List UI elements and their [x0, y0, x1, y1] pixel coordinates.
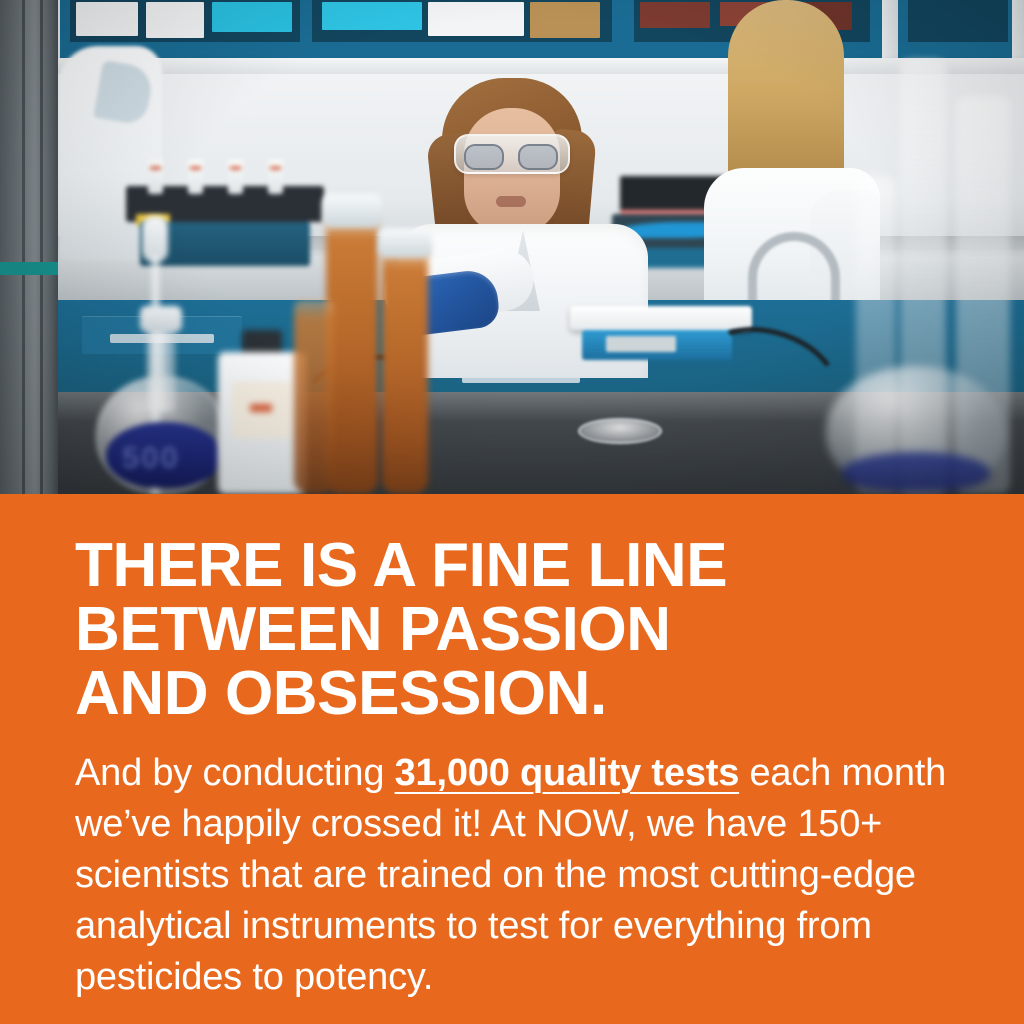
lab-photo: 500 — [0, 0, 1024, 494]
goggle-lens — [518, 144, 558, 170]
flask-volume-label: 500 — [122, 440, 180, 476]
balance-plate — [570, 306, 752, 330]
shelf-box — [146, 2, 204, 38]
structural-column — [0, 0, 58, 494]
promo-card: 500 THERE IS A FINE LINE BETWEEN PASSION… — [0, 0, 1024, 1024]
flask-stopper — [140, 306, 182, 332]
cabinet-divider — [882, 0, 898, 60]
body-copy: And by conducting 31,000 quality tests e… — [75, 748, 954, 1003]
petri-dish — [578, 418, 662, 444]
bottle-label — [232, 382, 292, 438]
page-headline: THERE IS A FINE LINE BETWEEN PASSION AND… — [75, 534, 954, 726]
mouth — [496, 196, 526, 207]
shelf-box — [76, 2, 138, 36]
sample-vial — [188, 160, 203, 194]
burette-cap — [322, 194, 382, 228]
amber-burette — [382, 244, 428, 494]
amber-cylinder — [294, 300, 334, 494]
orange-text-panel: THERE IS A FINE LINE BETWEEN PASSION AND… — [0, 494, 1024, 1024]
body-before: And by conducting — [75, 752, 395, 794]
shelf-compartment — [908, 0, 1008, 42]
column-seam — [22, 0, 25, 494]
burette-cap — [378, 228, 432, 258]
sample-vial — [148, 160, 163, 194]
sample-vial — [228, 160, 243, 194]
stat-emphasis: 31,000 quality tests — [395, 752, 740, 794]
blue-liquid — [842, 452, 990, 492]
shelf-box — [530, 2, 600, 38]
flask-bulb — [96, 376, 228, 494]
sample-vial — [268, 160, 283, 194]
balance-display — [606, 336, 676, 352]
flask-bulb — [826, 366, 1006, 494]
reagent-bottle — [218, 330, 306, 494]
safety-goggles-icon — [454, 134, 570, 174]
goggle-lens — [464, 144, 504, 170]
teal-accent-band — [0, 262, 58, 275]
clear-flask-right — [826, 320, 1006, 494]
cabinet-divider — [1012, 0, 1024, 60]
shelf-box — [212, 2, 292, 32]
lab-coat-collar — [93, 60, 154, 126]
shelf-box — [428, 2, 524, 36]
column-seam — [40, 0, 43, 494]
shelf-box — [322, 2, 422, 30]
volumetric-flask-500: 500 — [96, 316, 228, 494]
